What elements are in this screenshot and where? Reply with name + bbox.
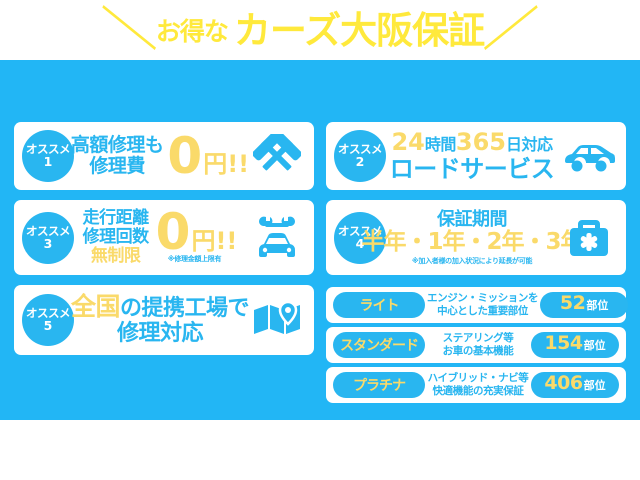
map-pin-icon bbox=[246, 300, 308, 340]
medical-briefcase-icon bbox=[558, 216, 620, 260]
feature-3-line1: 走行距離 bbox=[83, 209, 149, 228]
advertisement-canvas: ＼ お得な カーズ大阪保証 ／ オススメ 1 高額修理も 修理費 0 円!! bbox=[0, 0, 640, 480]
plan-count-number: 406 bbox=[544, 372, 582, 394]
feature-4-terms: 半年・1年・2年・3年 bbox=[362, 230, 583, 256]
plan-description-line2: お車の基本機能 bbox=[427, 345, 529, 358]
badge-3: オススメ 3 bbox=[22, 212, 74, 264]
plan-count-badge: 154 部位 bbox=[531, 332, 619, 358]
feature-4-text: 保証期間 半年・1年・2年・3年 ※加入者様の加入状況により延長が可能 bbox=[362, 210, 583, 266]
plan-description: ハイブリッド・ナビ等 快適機能の充実保証 bbox=[425, 372, 531, 397]
plan-count-number: 154 bbox=[544, 332, 582, 354]
badge-number: 5 bbox=[44, 319, 53, 332]
feature-card-2-body: 24時間365日対応 ロードサービス bbox=[386, 129, 558, 182]
feature-card-1-body: 高額修理も 修理費 0 円!! bbox=[74, 135, 246, 178]
feature-1-text: 高額修理も 修理費 bbox=[71, 135, 164, 178]
feature-2-line1: 24時間365日対応 bbox=[391, 129, 552, 155]
plan-row[interactable]: スタンダード ステアリング等 お車の基本機能 154 部位 bbox=[326, 327, 626, 363]
feature-2-line2: ロードサービス bbox=[390, 156, 555, 183]
title-main: カーズ大阪保証 bbox=[234, 12, 484, 49]
feature-card-5-body: 全国の提携工場で 修理対応 bbox=[74, 293, 246, 346]
badge-number: 3 bbox=[44, 237, 53, 250]
plan-count-badge: 406 部位 bbox=[531, 372, 619, 398]
feature-4-title: 保証期間 bbox=[437, 210, 507, 230]
feature-2-days-unit: 日対応 bbox=[506, 135, 553, 154]
feature-5-highlight: 全国 bbox=[71, 292, 120, 321]
feature-4-note: ※加入者様の加入状況により延長が可能 bbox=[412, 258, 532, 266]
feature-card-3-body: 走行距離 修理回数 無制限 0 円!! ※修理金額上限有 bbox=[74, 209, 246, 266]
plan-count-unit: 部位 bbox=[586, 297, 608, 313]
plan-description: ステアリング等 お車の基本機能 bbox=[425, 332, 531, 357]
badge-5: オススメ 5 bbox=[22, 294, 74, 346]
feature-1-unit: 円!! bbox=[203, 152, 249, 176]
feature-3-line3: 無制限 bbox=[91, 247, 141, 266]
plan-description-line2: 中心とした重要部位 bbox=[427, 305, 538, 318]
feature-card-2: オススメ 2 24時間365日対応 ロードサービス bbox=[326, 122, 626, 190]
plan-count-unit: 部位 bbox=[584, 377, 606, 393]
feature-card-1: オススメ 1 高額修理も 修理費 0 円!! bbox=[14, 122, 314, 190]
plan-name-badge: ライト bbox=[333, 292, 425, 318]
title-prefix: お得な bbox=[156, 12, 228, 48]
title-slash-left-icon: ＼ bbox=[102, 7, 159, 53]
badge-number: 2 bbox=[356, 155, 365, 168]
feature-2-hours-unit: 時間 bbox=[425, 135, 456, 154]
plan-row[interactable]: プラチナ ハイブリッド・ナビ等 快適機能の充実保証 406 部位 bbox=[326, 367, 626, 403]
feature-3-amount: 0 bbox=[156, 211, 191, 254]
feature-1-amount: 0 bbox=[167, 135, 202, 178]
plan-name-badge: スタンダード bbox=[333, 332, 425, 358]
plan-description: エンジン・ミッションを 中心とした重要部位 bbox=[425, 292, 540, 317]
feature-3-text: 走行距離 修理回数 無制限 bbox=[83, 209, 149, 266]
feature-3-price-group: 0 円!! ※修理金額上限有 bbox=[152, 211, 238, 264]
plan-count-unit: 部位 bbox=[584, 337, 606, 353]
plan-name-badge: プラチナ bbox=[333, 372, 425, 398]
car-side-icon bbox=[558, 139, 620, 173]
feature-3-price: 0 円!! bbox=[156, 211, 238, 254]
feature-3-note: ※修理金額上限有 bbox=[168, 254, 221, 264]
feature-3-line2: 修理回数 bbox=[83, 228, 149, 247]
feature-5-line1: 全国の提携工場で bbox=[71, 293, 249, 322]
plan-count-badge: 52 部位 bbox=[540, 292, 628, 318]
page-title: ＼ お得な カーズ大阪保証 ／ bbox=[0, 6, 640, 54]
plan-description-line1: ステアリング等 bbox=[427, 332, 529, 345]
badge-1: オススメ 1 bbox=[22, 130, 74, 182]
plan-row[interactable]: ライト エンジン・ミッションを 中心とした重要部位 52 部位 bbox=[326, 287, 626, 323]
feature-5-text: 全国の提携工場で 修理対応 bbox=[71, 293, 249, 346]
feature-card-4: オススメ 4 保証期間 半年・1年・2年・3年 ※加入者様の加入状況により延長が… bbox=[326, 200, 626, 275]
feature-2-hours-num: 24 bbox=[391, 128, 424, 156]
badge-2: オススメ 2 bbox=[334, 130, 386, 182]
wrench-car-icon bbox=[246, 212, 308, 264]
badge-number: 1 bbox=[44, 155, 53, 168]
plan-description-line2: 快適機能の充実保証 bbox=[427, 385, 529, 398]
feature-card-4-body: 保証期間 半年・1年・2年・3年 ※加入者様の加入状況により延長が可能 bbox=[386, 210, 558, 266]
plan-description-line1: エンジン・ミッションを bbox=[427, 292, 538, 305]
plan-description-line1: ハイブリッド・ナビ等 bbox=[427, 372, 529, 385]
feature-5-line1-rest: の提携工場で bbox=[120, 296, 249, 321]
plan-count-number: 52 bbox=[560, 292, 585, 314]
feature-card-3: オススメ 3 走行距離 修理回数 無制限 0 円!! ※修理金額上限有 bbox=[14, 200, 314, 275]
feature-card-5: オススメ 5 全国の提携工場で 修理対応 bbox=[14, 285, 314, 355]
feature-2-text: 24時間365日対応 ロードサービス bbox=[390, 129, 555, 182]
feature-5-line2: 修理対応 bbox=[117, 322, 203, 347]
feature-1-line2: 修理費 bbox=[89, 156, 145, 177]
crossed-hammers-icon bbox=[246, 134, 308, 178]
feature-1-line1: 高額修理も bbox=[71, 135, 164, 156]
feature-3-unit: 円!! bbox=[191, 229, 237, 253]
title-slash-right-icon: ／ bbox=[482, 7, 539, 53]
feature-1-price: 0 円!! bbox=[167, 135, 249, 178]
feature-2-days-num: 365 bbox=[456, 128, 506, 156]
